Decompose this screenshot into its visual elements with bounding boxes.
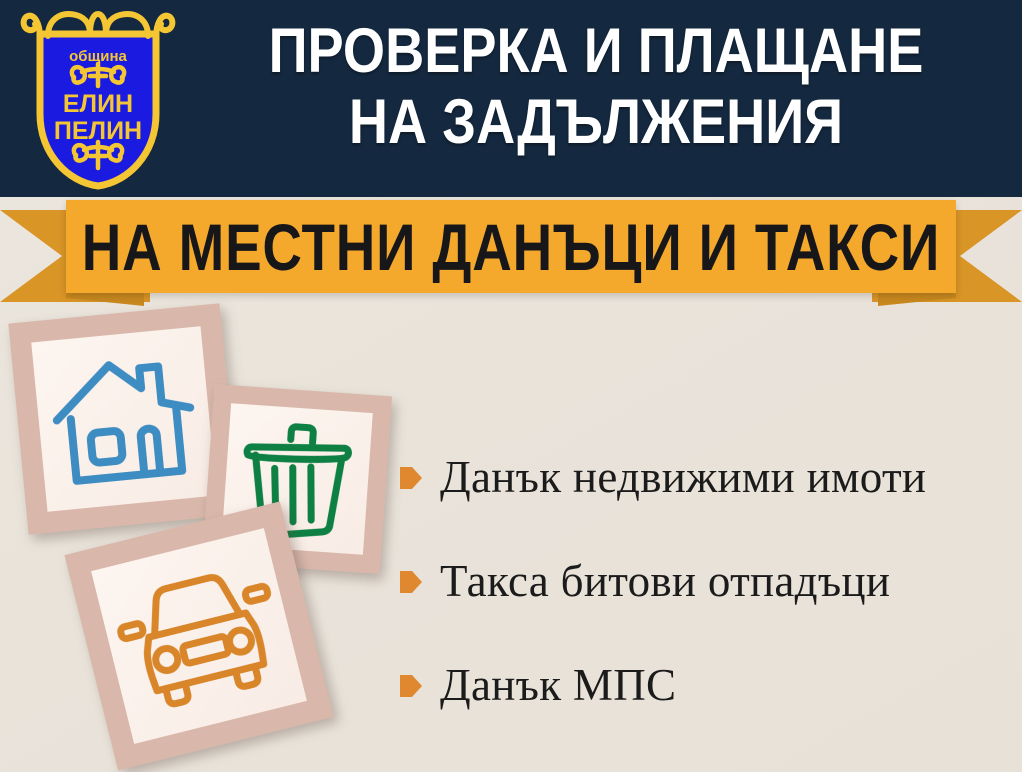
ribbon-banner: НА МЕСТНИ ДАНЪЦИ И ТАКСИ	[0, 196, 1022, 308]
ribbon-subtitle: НА МЕСТНИ ДАНЪЦИ И ТАКСИ	[142, 200, 881, 293]
tax-type-list: Данък недвижими имоти Такса битови отпад…	[400, 425, 1010, 737]
list-item-label: Такса битови отпадъци	[440, 559, 890, 604]
crest-name-line-1: ЕЛИН	[63, 90, 133, 118]
stamp-paper-property	[31, 326, 217, 512]
list-item-label: Данък недвижими имоти	[440, 455, 926, 500]
arrow-bullet-icon	[400, 465, 422, 491]
page-title: ПРОВЕРКА И ПЛАЩАНЕ НА ЗАДЪЛЖЕНИЯ	[243, 16, 948, 157]
ribbon-fold-right	[878, 292, 956, 306]
crest-icon: община ЕЛИН ПЕЛИН	[18, 6, 178, 191]
arrow-bullet-icon	[400, 569, 422, 595]
list-item[interactable]: Данък недвижими имоти	[400, 425, 1010, 529]
list-item[interactable]: Такса битови отпадъци	[400, 529, 1010, 633]
stamp-card-property	[8, 303, 239, 534]
arrow-bullet-icon	[400, 673, 422, 699]
coat-of-arms-logo: община ЕЛИН ПЕЛИН	[18, 6, 178, 191]
list-item-label: Данък МПС	[440, 663, 676, 708]
list-item[interactable]: Данък МПС	[400, 633, 1010, 737]
poster-root: ПРОВЕРКА И ПЛАЩАНЕ НА ЗАДЪЛЖЕНИЯ община	[0, 0, 1022, 772]
house-icon	[31, 326, 217, 512]
ribbon-fold-left	[66, 292, 144, 306]
ribbon-band: НА МЕСТНИ ДАНЪЦИ И ТАКСИ	[66, 200, 956, 293]
